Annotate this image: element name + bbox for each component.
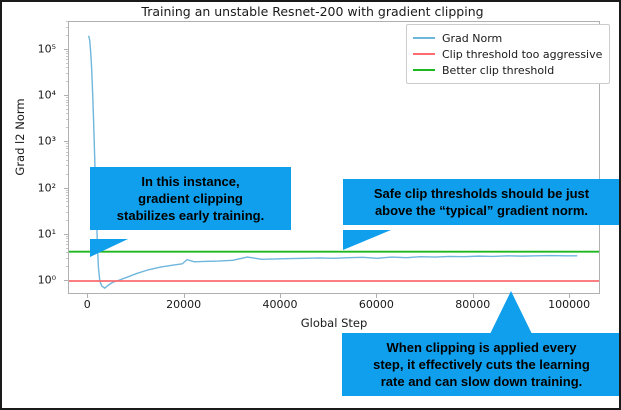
x-tick-mark	[473, 294, 474, 298]
x-tick-label: 0	[84, 298, 91, 311]
legend-label: Clip threshold too aggressive	[442, 48, 602, 61]
x-tick-label: 20000	[166, 298, 201, 311]
x-tick-label: 80000	[455, 298, 490, 311]
x-tick-mark	[569, 294, 570, 298]
annotation-line: Safe clip thresholds should be just	[351, 185, 612, 202]
y-tick-label: 10¹	[38, 227, 56, 240]
y-tick-label: 10⁵	[38, 42, 56, 55]
x-tick-label: 40000	[263, 298, 298, 311]
legend-label: Grad Norm	[442, 32, 502, 45]
legend-item[interactable]: Grad Norm	[413, 30, 602, 46]
annotation-line: stabilizes early training.	[98, 207, 283, 224]
legend-color-swatch	[413, 37, 435, 39]
chart-legend: Grad NormClip threshold too aggressiveBe…	[406, 24, 610, 84]
y-tick-label: 10⁰	[38, 273, 56, 286]
legend-label: Better clip threshold	[442, 64, 554, 77]
x-tick-label: 60000	[359, 298, 394, 311]
y-tick-label: 10³	[38, 135, 56, 148]
legend-item[interactable]: Clip threshold too aggressive	[413, 46, 602, 62]
y-axis-label: Grad l2 Norm	[13, 67, 27, 207]
annotation-callout-early-training: In this instance,gradient clippingstabil…	[90, 167, 291, 230]
annotation-tail-3	[490, 291, 532, 334]
chart-title: Training an unstable Resnet-200 with gra…	[2, 4, 621, 19]
annotation-line: rate and can slow down training.	[350, 373, 613, 390]
annotation-line: When clipping is applied every	[350, 339, 613, 356]
legend-color-swatch	[413, 69, 435, 71]
annotation-line: In this instance,	[98, 173, 283, 190]
annotation-tail-1	[90, 239, 128, 257]
annotation-line: step, it effectively cuts the learning	[350, 356, 613, 373]
annotation-callout-clipping-cost: When clipping is applied everystep, it e…	[342, 333, 621, 396]
x-tick-mark	[280, 294, 281, 298]
x-tick-mark	[184, 294, 185, 298]
legend-color-swatch	[413, 53, 435, 55]
annotation-line: gradient clipping	[98, 190, 283, 207]
legend-item[interactable]: Better clip threshold	[413, 62, 602, 78]
annotation-line: above the “typical” gradient norm.	[351, 202, 612, 219]
y-tick-label: 10²	[38, 181, 56, 194]
x-tick-label: 100000	[548, 298, 590, 311]
chart-screenshot: Training an unstable Resnet-200 with gra…	[0, 0, 621, 410]
x-tick-mark	[87, 294, 88, 298]
x-tick-mark	[376, 294, 377, 298]
y-tick-label: 10⁴	[38, 89, 56, 102]
annotation-callout-safe-threshold: Safe clip thresholds should be justabove…	[343, 179, 620, 225]
annotation-tail-2	[343, 230, 391, 250]
